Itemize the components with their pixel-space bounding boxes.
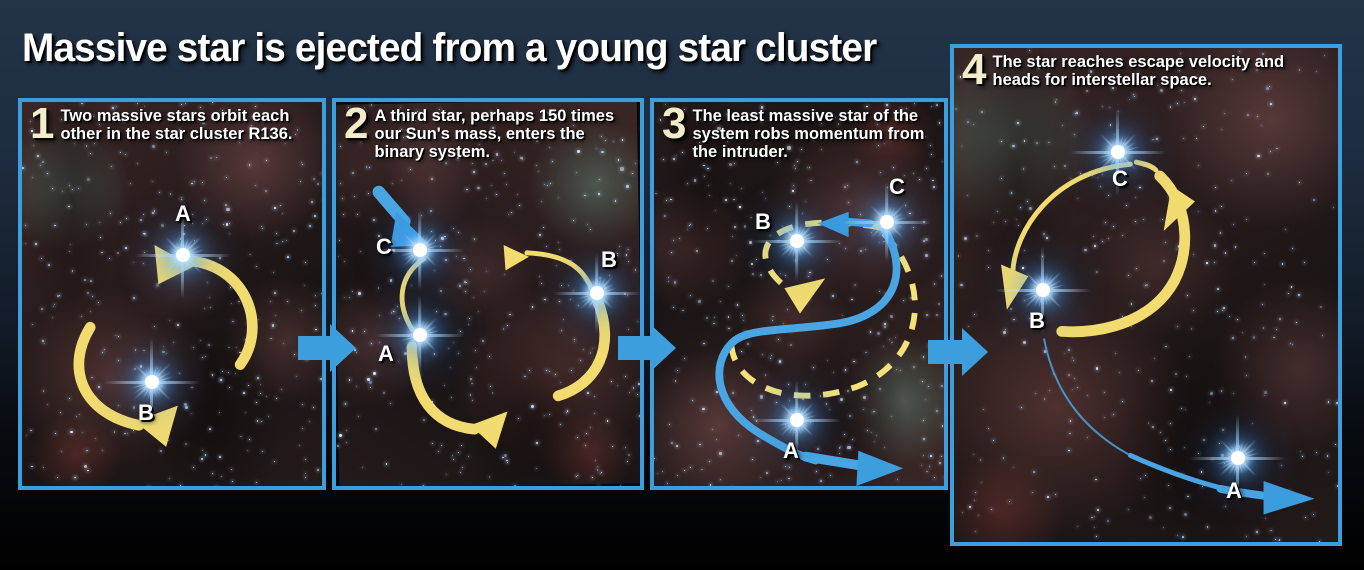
panel-4: 4 The star reaches escape velocity and h… <box>950 44 1342 546</box>
caption-4: 4 The star reaches escape velocity and h… <box>962 52 1332 90</box>
blue-arrowhead-exit-4 <box>1264 481 1315 514</box>
dashed-orbit-lower-3 <box>731 233 915 395</box>
orbit-arc-b-1 <box>79 327 139 425</box>
caption-3: 3 The least massive star of the system r… <box>662 106 938 161</box>
panel-3: 3 The least massive star of the system r… <box>650 98 948 490</box>
dashed-arrowhead-3 <box>784 278 825 313</box>
arrow-panel1-to-panel2 <box>296 322 358 374</box>
blue-arrowhead-exit-3 <box>856 451 903 486</box>
page-title: Massive star is ejected from a young sta… <box>22 26 876 71</box>
star-label-a-panel-3: A <box>783 438 799 464</box>
orbit-arc-top-2 <box>527 253 591 288</box>
arrowhead-a-1 <box>154 245 193 284</box>
star-label-a-panel-2: A <box>378 341 394 367</box>
star-label-b-panel-3: B <box>755 209 771 235</box>
panel-number-2: 2 <box>344 104 368 144</box>
star-label-b-panel-4: B <box>1029 308 1045 334</box>
arrow-panel3-to-panel4 <box>926 326 990 378</box>
orbit-arc-bottom-2 <box>412 347 474 429</box>
arrowhead-bottom-2 <box>470 412 507 449</box>
arrowhead-top-2 <box>504 245 529 270</box>
panel-1: 1 Two massive stars orbit each other in … <box>18 98 326 490</box>
orbit-arc-stub-4 <box>1136 162 1156 170</box>
caption-2: 2 A third star, perhaps 150 times our Su… <box>344 106 634 161</box>
blue-trajectory-3 <box>719 225 896 460</box>
caption-text-4: The star reaches escape velocity and hea… <box>992 52 1332 90</box>
infographic-root: Massive star is ejected from a young sta… <box>0 0 1364 570</box>
star-label-c-panel-3: C <box>889 174 905 200</box>
caption-text-2: A third star, perhaps 150 times our Sun'… <box>374 106 634 161</box>
orbit-arc-a-1 <box>190 261 253 365</box>
panel-number-1: 1 <box>30 104 54 144</box>
star-label-a-panel-1: A <box>175 201 191 227</box>
caption-text-1: Two massive stars orbit each other in th… <box>60 106 316 144</box>
star-label-c-panel-2: C <box>376 234 392 260</box>
orbit-arrows-1 <box>22 102 322 486</box>
star-label-b-panel-2: B <box>601 247 617 273</box>
orbit-arc-left-2 <box>402 259 424 330</box>
panel-number-3: 3 <box>662 104 686 144</box>
caption-1: 1 Two massive stars orbit each other in … <box>30 106 316 144</box>
panel-2: 2 A third star, perhaps 150 times our Su… <box>332 98 644 490</box>
star-label-b-panel-1: B <box>138 400 154 426</box>
blue-arrowhead-top-3 <box>817 212 848 237</box>
orbit-arc-right-2 <box>558 300 605 396</box>
orbit-arc-right-4 <box>1062 176 1185 332</box>
panel-number-4: 4 <box>962 50 986 90</box>
star-label-a-panel-4: A <box>1226 478 1242 504</box>
dashed-orbit-upper-3 <box>765 222 879 284</box>
arrow-panel2-to-panel3 <box>616 322 678 374</box>
star-label-c-panel-4: C <box>1112 166 1128 192</box>
arrowhead-left-4 <box>1001 264 1028 309</box>
orbit-arrows-4 <box>954 48 1338 542</box>
caption-text-3: The least massive star of the system rob… <box>692 106 938 161</box>
